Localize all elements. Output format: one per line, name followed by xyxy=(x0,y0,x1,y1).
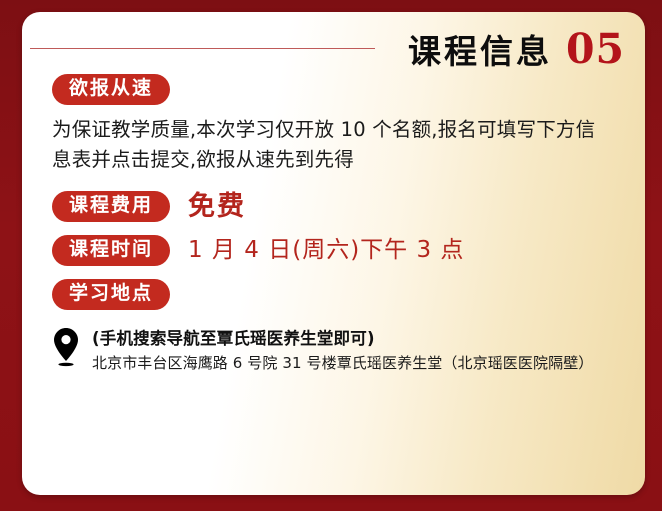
badge-course-fee: 课程费用 xyxy=(52,191,170,222)
urgency-badge-row: 欲报从速 xyxy=(52,74,621,105)
course-fee-value: 免费 xyxy=(188,193,246,220)
address-full: 北京市丰台区海鹰路 6 号院 31 号楼覃氏瑶医养生堂（北京瑶医医院隔壁） xyxy=(92,353,593,373)
address-text-group: (手机搜索导航至覃氏瑶医养生堂即可) 北京市丰台区海鹰路 6 号院 31 号楼覃… xyxy=(92,326,593,374)
page-title: 课程信息 xyxy=(408,35,552,68)
location-row: 学习地点 xyxy=(52,279,621,310)
address-block: (手机搜索导航至覃氏瑶医养生堂即可) 北京市丰台区海鹰路 6 号院 31 号楼覃… xyxy=(52,326,621,374)
time-row: 课程时间 1 月 4 日(周六)下午 3 点 xyxy=(52,235,621,266)
section-number: 05 xyxy=(566,29,625,70)
content-card: 课程信息 05 欲报从速 为保证教学质量,本次学习仅开放 10 个名额,报名可填… xyxy=(22,12,645,495)
poster-root: 课程信息 05 欲报从速 为保证教学质量,本次学习仅开放 10 个名额,报名可填… xyxy=(0,0,662,511)
fee-row: 课程费用 免费 xyxy=(52,191,621,222)
address-navigation-note: (手机搜索导航至覃氏瑶医养生堂即可) xyxy=(92,328,593,350)
header: 课程信息 05 xyxy=(408,29,625,70)
badge-study-location: 学习地点 xyxy=(52,279,170,310)
urgency-description: 为保证教学质量,本次学习仅开放 10 个名额,报名可填写下方信息表并点击提交,欲… xyxy=(52,115,612,175)
course-time-value: 1 月 4 日(周六)下午 3 点 xyxy=(188,239,464,262)
map-pin-icon xyxy=(52,327,80,369)
badge-urgency: 欲报从速 xyxy=(52,74,170,105)
content-area: 欲报从速 为保证教学质量,本次学习仅开放 10 个名额,报名可填写下方信息表并点… xyxy=(52,74,621,374)
badge-course-time: 课程时间 xyxy=(52,235,170,266)
decorative-header-rule xyxy=(30,48,375,49)
